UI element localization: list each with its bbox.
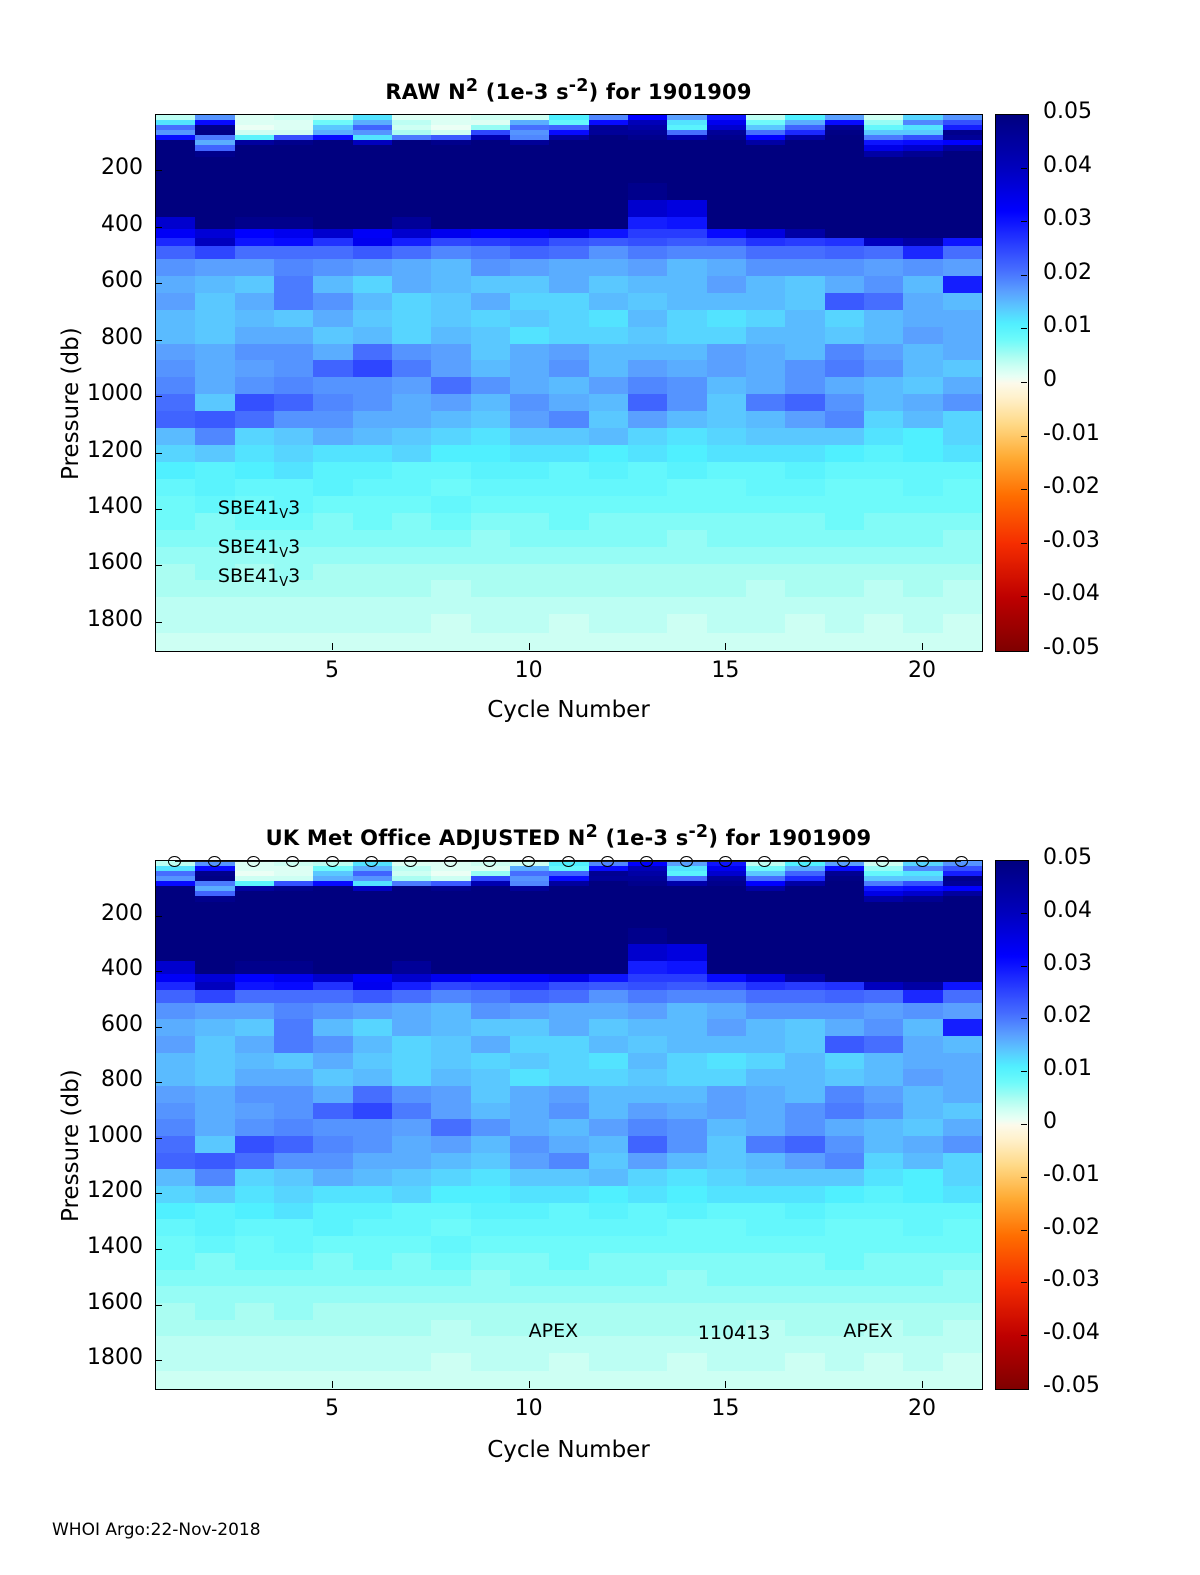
heatmap-cell (628, 913, 667, 928)
heatmap-cell (235, 229, 274, 238)
heatmap-cell (431, 462, 470, 479)
heatmap-row (156, 238, 982, 247)
heatmap-cell (195, 1069, 234, 1086)
heatmap-cell (667, 1371, 706, 1389)
heatmap-cell (785, 259, 824, 276)
heatmap-cell (195, 1286, 234, 1303)
heatmap-cell (943, 1303, 982, 1320)
heatmap-cell (274, 1236, 313, 1253)
heatmap-cell (235, 157, 274, 168)
heatmap-cell (707, 597, 746, 614)
heatmap-row (156, 183, 982, 200)
cycle-marker[interactable] (365, 856, 378, 867)
heatmap-cell (235, 1119, 274, 1136)
heatmap-cell (746, 1253, 785, 1270)
heatmap-cell (707, 564, 746, 581)
heatmap-cell (589, 259, 628, 276)
heatmap-cell (510, 1086, 549, 1103)
heatmap-row (156, 1136, 982, 1153)
heatmap-cell (510, 990, 549, 1003)
heatmap-cell (707, 1153, 746, 1170)
heatmap-cell (825, 1236, 864, 1253)
heatmap-cell (510, 1136, 549, 1153)
heatmap-cell (235, 1303, 274, 1320)
heatmap-cell (746, 564, 785, 581)
heatmap-cell (628, 597, 667, 614)
heatmap-cell (903, 462, 942, 479)
title-text-post: ) for 1901909 (708, 826, 871, 850)
heatmap-cell (353, 411, 392, 428)
heatmap-cell (785, 496, 824, 513)
heatmap-cell (195, 1353, 234, 1371)
heatmap-cell (943, 944, 982, 961)
heatmap-cell (156, 183, 195, 200)
heatmap-cell (864, 310, 903, 327)
colorbar-tick-mark (1021, 966, 1027, 967)
heatmap-cell (628, 1253, 667, 1270)
heatmap-cell (667, 961, 706, 974)
heatmap-cell (195, 1103, 234, 1120)
heatmap-cell (274, 1270, 313, 1287)
heatmap-cell (903, 428, 942, 445)
heatmap-cell (825, 530, 864, 547)
heatmap-cell (156, 1103, 195, 1120)
heatmap-cell (903, 982, 942, 991)
heatmap-cell (274, 1203, 313, 1220)
heatmap-cell (628, 1169, 667, 1186)
heatmap-cell (667, 394, 706, 411)
heatmap-cell (943, 1169, 982, 1186)
heatmap-cell (825, 259, 864, 276)
heatmap-cell (746, 928, 785, 945)
heatmap-cell (353, 1153, 392, 1170)
heatmap-cell (785, 229, 824, 238)
heatmap-cell (392, 344, 431, 361)
heatmap-cell (392, 462, 431, 479)
heatmap-cell (549, 276, 588, 293)
title-sup-n2: 2 (466, 76, 478, 96)
cycle-marker[interactable] (326, 856, 339, 867)
heatmap-cell (628, 1186, 667, 1203)
heatmap-cell (707, 1086, 746, 1103)
y-tick-label: 400 (0, 956, 143, 981)
heatmap-cell (667, 479, 706, 496)
heatmap-cell (392, 259, 431, 276)
heatmap-cell (667, 1003, 706, 1020)
heatmap-cell (864, 445, 903, 462)
heatmap-cell (313, 1186, 352, 1203)
heatmap-cell (864, 259, 903, 276)
heatmap-cell (864, 1086, 903, 1103)
heatmap-cell (589, 462, 628, 479)
heatmap-cell (313, 1353, 352, 1371)
heatmap-cell (628, 1136, 667, 1153)
heatmap-cell (235, 1053, 274, 1070)
heatmap-cell (628, 445, 667, 462)
heatmap-cell (392, 597, 431, 614)
heatmap-cell (353, 293, 392, 310)
heatmap-cell (471, 530, 510, 547)
heatmap-cell (628, 547, 667, 564)
cycle-marker[interactable] (680, 856, 693, 867)
heatmap-cell (864, 293, 903, 310)
heatmap-cell (235, 1236, 274, 1253)
heatmap-cell (707, 1136, 746, 1153)
heatmap-cell (156, 1186, 195, 1203)
heatmap-cell (589, 1203, 628, 1220)
heatmap-cell (510, 1019, 549, 1036)
heatmap-row (156, 377, 982, 394)
cycle-marker[interactable] (955, 856, 968, 867)
heatmap-cell (392, 1036, 431, 1053)
heatmap-cell (313, 928, 352, 945)
cycle-marker[interactable] (247, 856, 260, 867)
heatmap-cell (431, 1303, 470, 1320)
heatmap-row (156, 310, 982, 327)
heatmap-cell (589, 1353, 628, 1371)
heatmap-cell (156, 1336, 195, 1353)
heatmap-cell (825, 961, 864, 974)
heatmap-cell (431, 293, 470, 310)
heatmap-cell (471, 1320, 510, 1337)
heatmap-cell (825, 229, 864, 238)
heatmap-cell (156, 1169, 195, 1186)
heatmap-cell (746, 229, 785, 238)
heatmap-cell (667, 1086, 706, 1103)
heatmap-cell (510, 564, 549, 581)
colorbar-tick-label: -0.04 (1043, 1320, 1100, 1345)
heatmap-cell (353, 1270, 392, 1287)
heatmap-cell (313, 944, 352, 961)
heatmap-cell (235, 479, 274, 496)
heatmap-cell (943, 564, 982, 581)
annot-text-post: 3 (288, 497, 300, 519)
heatmap-cell (589, 344, 628, 361)
x-tick-label: 5 (292, 1396, 372, 1421)
cycle-marker[interactable] (876, 856, 889, 867)
heatmap-cell (471, 990, 510, 1003)
heatmap-cell (746, 1103, 785, 1120)
heatmap-cell (274, 1103, 313, 1120)
heatmap-cell (864, 928, 903, 945)
heatmap-cell (431, 1371, 470, 1389)
heatmap-cell (195, 1320, 234, 1337)
heatmap-cell (864, 564, 903, 581)
heatmap-cell (235, 1371, 274, 1389)
heatmap-row (156, 614, 982, 633)
heatmap-cell (903, 944, 942, 961)
heatmap-cell (746, 411, 785, 428)
heatmap-cell (785, 1336, 824, 1353)
heatmap-cell (589, 327, 628, 344)
heatmap-cell (274, 1003, 313, 1020)
cycle-marker[interactable] (208, 856, 221, 867)
heatmap-cell (903, 157, 942, 168)
heatmap-cell (274, 183, 313, 200)
heatmap-row (156, 633, 982, 652)
heatmap-cell (510, 902, 549, 913)
heatmap-cell (471, 614, 510, 633)
heatmap-cell (549, 360, 588, 377)
heatmap-cell (943, 1086, 982, 1103)
heatmap-cell (274, 1371, 313, 1389)
heatmap-cell (903, 961, 942, 974)
heatmap-cell (392, 1119, 431, 1136)
heatmap-cell (313, 293, 352, 310)
title-text-pre: UK Met Office ADJUSTED N (266, 826, 586, 850)
heatmap-cell (903, 913, 942, 928)
heatmap-cell (589, 547, 628, 564)
cycle-marker[interactable] (719, 856, 732, 867)
heatmap-cell (471, 1119, 510, 1136)
cycle-marker[interactable] (168, 856, 181, 867)
heatmap-cell (628, 1303, 667, 1320)
heatmap-cell (903, 1219, 942, 1236)
heatmap-cell (943, 327, 982, 344)
heatmap-cell (313, 217, 352, 230)
heatmap-cell (943, 1069, 982, 1086)
heatmap-cell (392, 1086, 431, 1103)
heatmap-cell (589, 928, 628, 945)
heatmap-cell (864, 513, 903, 530)
heatmap-cell (510, 479, 549, 496)
heatmap-cell (825, 200, 864, 217)
y-tick-mark (155, 565, 162, 566)
annot-subscript: V (279, 575, 288, 590)
cycle-marker[interactable] (837, 856, 850, 867)
heatmap-cell (628, 1119, 667, 1136)
heatmap-cell (707, 167, 746, 183)
heatmap-cell (903, 1153, 942, 1170)
heatmap-cell (589, 183, 628, 200)
heatmap-cell (471, 513, 510, 530)
heatmap-cell (943, 462, 982, 479)
heatmap-cell (353, 547, 392, 564)
heatmap-cell (628, 944, 667, 961)
heatmap-cell (667, 944, 706, 961)
heatmap-cell (195, 259, 234, 276)
figure-footer: WHOI Argo:22-Nov-2018 (52, 1520, 261, 1540)
cycle-marker[interactable] (562, 856, 575, 867)
heatmap-cell (943, 530, 982, 547)
heatmap-cell (549, 377, 588, 394)
heatmap-cell (471, 1019, 510, 1036)
heatmap-cell (943, 1219, 982, 1236)
heatmap-cell (628, 167, 667, 183)
heatmap-cell (549, 633, 588, 652)
heatmap-cell (785, 1153, 824, 1170)
heatmap-cell (392, 1186, 431, 1203)
heatmap-cell (667, 344, 706, 361)
heatmap-row (156, 1019, 982, 1036)
heatmap-cell (549, 1019, 588, 1036)
cycle-marker[interactable] (404, 856, 417, 867)
heatmap-cell (667, 1103, 706, 1120)
x-tick-mark (725, 643, 726, 650)
heatmap-cell (549, 1270, 588, 1287)
heatmap-cell (195, 982, 234, 991)
heatmap-cell (274, 394, 313, 411)
heatmap-cell (746, 157, 785, 168)
heatmap-cell (471, 276, 510, 293)
heatmap-cell (864, 238, 903, 247)
heatmap-cell (549, 310, 588, 327)
heatmap-cell (628, 1203, 667, 1220)
heatmap-cell (549, 445, 588, 462)
heatmap-cell (628, 1153, 667, 1170)
heatmap-cell (864, 530, 903, 547)
heatmap-cell (313, 564, 352, 581)
heatmap-cell (392, 310, 431, 327)
heatmap-cell (353, 614, 392, 633)
heatmap-cell (353, 1336, 392, 1353)
colorbar-tick-mark (1021, 275, 1027, 276)
heatmap-cell (471, 377, 510, 394)
heatmap-cell (471, 1036, 510, 1053)
heatmap-cell (510, 1219, 549, 1236)
y-tick-label: 1000 (0, 381, 143, 406)
heatmap-cell (746, 1036, 785, 1053)
heatmap-cell (707, 1186, 746, 1203)
heatmap-cell (510, 1186, 549, 1203)
heatmap-cell (431, 530, 470, 547)
cycle-marker[interactable] (522, 856, 535, 867)
heatmap-cell (864, 496, 903, 513)
heatmap-cell (707, 428, 746, 445)
heatmap-cell (510, 580, 549, 597)
heatmap-row (156, 928, 982, 945)
heatmap-cell (195, 990, 234, 1003)
heatmap-row (156, 259, 982, 276)
heatmap-cell (589, 913, 628, 928)
heatmap-cell (235, 633, 274, 652)
heatmap-cell (903, 1136, 942, 1153)
heatmap-adjusted (156, 861, 982, 1389)
heatmap-cell (628, 1019, 667, 1036)
heatmap-cell (707, 990, 746, 1003)
y-tick-label: 1800 (0, 607, 143, 632)
heatmap-cell (667, 1253, 706, 1270)
heatmap-cell (589, 246, 628, 259)
heatmap-cell (353, 1253, 392, 1270)
heatmap-cell (785, 183, 824, 200)
heatmap-cell (825, 327, 864, 344)
heatmap-cell (392, 1270, 431, 1287)
heatmap-cell (549, 229, 588, 238)
heatmap-cell (943, 547, 982, 564)
heatmap-cell (825, 614, 864, 633)
heatmap-cell (707, 496, 746, 513)
heatmap-cell (549, 547, 588, 564)
heatmap-cell (549, 1371, 588, 1389)
heatmap-cell (274, 445, 313, 462)
heatmap-cell (903, 411, 942, 428)
colorbar-tick-mark (1021, 543, 1027, 544)
cycle-marker[interactable] (601, 856, 614, 867)
heatmap-cell (156, 1203, 195, 1220)
cycle-marker[interactable] (444, 856, 457, 867)
heatmap-row (156, 157, 982, 168)
heatmap-cell (903, 1169, 942, 1186)
heatmap-cell (353, 1003, 392, 1020)
heatmap-cell (825, 1219, 864, 1236)
heatmap-cell (392, 217, 431, 230)
heatmap-cell (549, 411, 588, 428)
heatmap-cell (431, 1003, 470, 1020)
heatmap-cell (392, 238, 431, 247)
heatmap-cell (274, 411, 313, 428)
heatmap-cell (549, 394, 588, 411)
annot-subscript: V (279, 546, 288, 561)
heatmap-cell (943, 428, 982, 445)
heatmap-cell (510, 1203, 549, 1220)
heatmap-cell (864, 377, 903, 394)
heatmap-cell (628, 496, 667, 513)
heatmap-cell (864, 1153, 903, 1170)
heatmap-cell (785, 547, 824, 564)
heatmap-cell (746, 597, 785, 614)
heatmap-cell (313, 183, 352, 200)
heatmap-cell (628, 428, 667, 445)
heatmap-cell (353, 1136, 392, 1153)
heatmap-cell (707, 614, 746, 633)
heatmap-cell (431, 394, 470, 411)
cycle-marker[interactable] (286, 856, 299, 867)
heatmap-cell (746, 1069, 785, 1086)
heatmap-cell (156, 1353, 195, 1371)
cycle-marker[interactable] (798, 856, 811, 867)
heatmap-cell (471, 183, 510, 200)
heatmap-cell (589, 310, 628, 327)
heatmap-cell (353, 327, 392, 344)
heatmap-cell (274, 377, 313, 394)
heatmap-cell (864, 360, 903, 377)
heatmap-cell (707, 200, 746, 217)
heatmap-cell (549, 1136, 588, 1153)
heatmap-cell (943, 479, 982, 496)
heatmap-cell (353, 479, 392, 496)
heatmap-cell (195, 310, 234, 327)
heatmap-cell (903, 1353, 942, 1371)
heatmap-cell (667, 1236, 706, 1253)
heatmap-cell (785, 580, 824, 597)
heatmap-cell (549, 597, 588, 614)
heatmap-cell (707, 1303, 746, 1320)
y-tick-label: 200 (0, 155, 143, 180)
y-tick-label: 1600 (0, 550, 143, 575)
panel-adjusted-axes[interactable] (155, 860, 983, 1390)
heatmap-cell (864, 1236, 903, 1253)
heatmap-cell (471, 1353, 510, 1371)
heatmap-cell (903, 1086, 942, 1103)
heatmap-cell (274, 344, 313, 361)
heatmap-cell (274, 229, 313, 238)
plot-annotation: 110413 (698, 1322, 771, 1344)
heatmap-cell (746, 246, 785, 259)
cycle-marker[interactable] (916, 856, 929, 867)
heatmap-cell (195, 157, 234, 168)
heatmap-cell (785, 1003, 824, 1020)
heatmap-cell (667, 1303, 706, 1320)
heatmap-cell (471, 902, 510, 913)
cycle-marker[interactable] (483, 856, 496, 867)
heatmap-cell (549, 1003, 588, 1020)
heatmap-cell (785, 513, 824, 530)
cycle-marker[interactable] (758, 856, 771, 867)
heatmap-cell (707, 293, 746, 310)
cycle-marker[interactable] (640, 856, 653, 867)
heatmap-cell (274, 1153, 313, 1170)
